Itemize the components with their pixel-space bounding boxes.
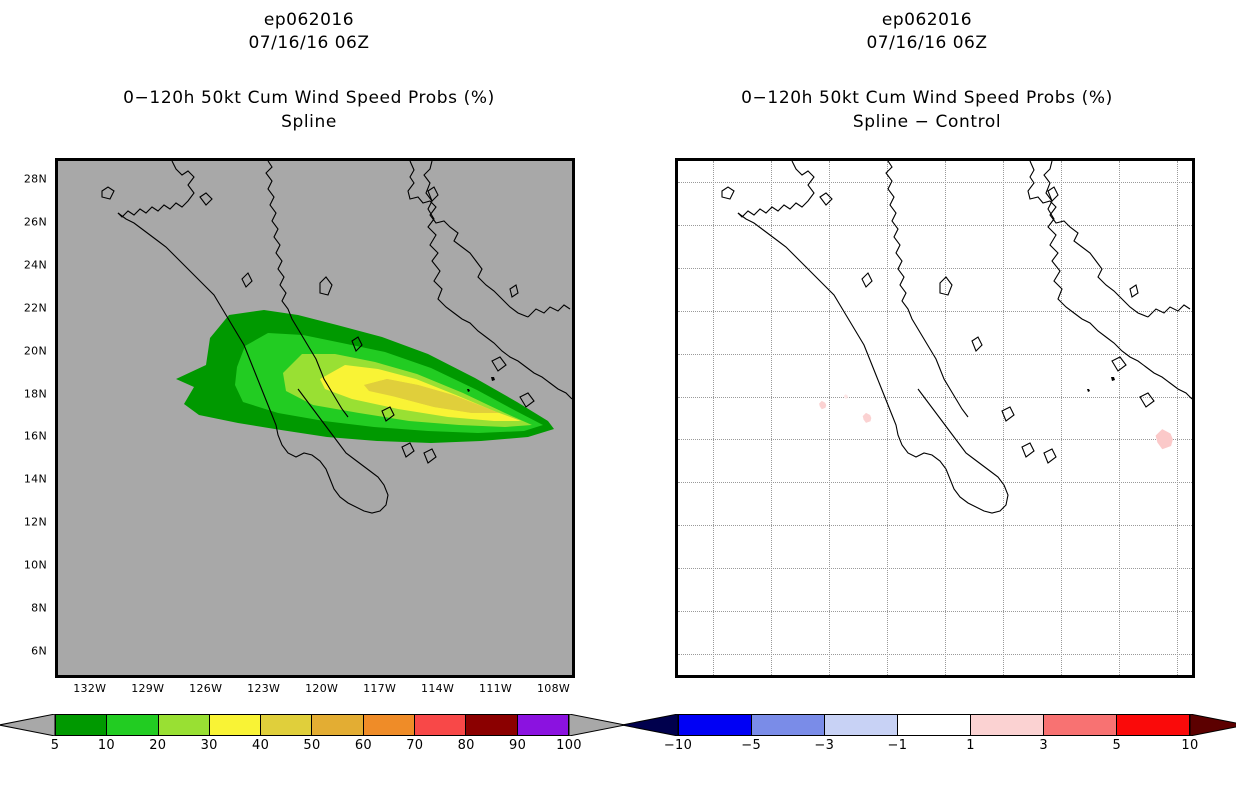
- colorbar-tick-label: 70: [406, 738, 423, 753]
- axis-tick-y: [675, 524, 676, 526]
- colorbar-tick-label: 100: [556, 738, 582, 753]
- axis-tick-x: [770, 675, 772, 678]
- axis-tick-y: [55, 653, 56, 655]
- axis-tick-x: [266, 675, 268, 678]
- axis-label-latitude: 18N: [7, 387, 47, 400]
- colorbar-cell: [1116, 714, 1190, 736]
- axis-tick-y: [675, 610, 676, 612]
- chart-subtitle-right: Spline − Control: [618, 112, 1236, 132]
- colorbar-cell: [55, 714, 106, 736]
- axis-tick-y: [675, 653, 676, 655]
- axis-tick-x: [324, 675, 326, 678]
- axis-tick-y: [55, 567, 56, 569]
- axis-tick-y: [55, 396, 56, 398]
- axis-tick-y: [675, 481, 676, 483]
- axis-tick-x: [498, 675, 500, 678]
- colorbar-tick-label: −3: [814, 738, 834, 753]
- axis-tick-y: [55, 224, 56, 226]
- colorbar-bands-probability: [55, 714, 569, 736]
- axis-tick-y: [675, 438, 676, 440]
- datetime-right: 07/16/16 06Z: [618, 33, 1236, 53]
- axis-tick-x: [556, 675, 558, 678]
- axis-label-longitude: 114W: [421, 682, 454, 695]
- datetime-left: 07/16/16 06Z: [0, 33, 618, 53]
- axis-tick-y: [55, 524, 56, 526]
- colorbar-labels-difference: −10−5−3−113510: [678, 738, 1190, 756]
- coastline-right: [678, 161, 1192, 675]
- colorbar-cell: [106, 714, 157, 736]
- axis-tick-y: [55, 267, 56, 269]
- axis-label-longitude: 123W: [247, 682, 280, 695]
- colorbar-tick-label: 1: [966, 738, 975, 753]
- colorbar-bands-difference: [678, 714, 1190, 736]
- axis-tick-y: [55, 481, 56, 483]
- axis-label-longitude: 129W: [131, 682, 164, 695]
- panel-spline-minus-control: ep062016 07/16/16 06Z 0−120h 50kt Cum Wi…: [618, 0, 1236, 800]
- map-plot-difference: [675, 158, 1195, 678]
- axis-tick-x: [1118, 675, 1120, 678]
- colorbar-cell: [414, 714, 465, 736]
- axis-tick-y: [675, 567, 676, 569]
- coastline-left: [58, 161, 572, 675]
- colorbar-tick-label: 40: [252, 738, 269, 753]
- axis-label-latitude: 24N: [7, 259, 47, 272]
- colorbar-tick-label: 10: [1181, 738, 1198, 753]
- axis-tick-x: [828, 675, 830, 678]
- colorbar-tick-label: 80: [458, 738, 475, 753]
- colorbar-cell: [824, 714, 897, 736]
- axis-label-longitude: 108W: [537, 682, 570, 695]
- colorbar-arrow-low-left: [0, 714, 55, 736]
- storm-id-right: ep062016: [618, 10, 1236, 30]
- axis-tick-x: [1002, 675, 1004, 678]
- colorbar-cell: [209, 714, 260, 736]
- storm-id-left: ep062016: [0, 10, 618, 30]
- axis-label-latitude: 8N: [7, 601, 47, 614]
- chart-title-left: 0−120h 50kt Cum Wind Speed Probs (%): [0, 88, 618, 108]
- axis-tick-x: [208, 675, 210, 678]
- colorbar-tick-label: 5: [51, 738, 60, 753]
- colorbar-arrow-high-left: [569, 714, 625, 736]
- colorbar-cell: [678, 714, 751, 736]
- axis-label-longitude: 120W: [305, 682, 338, 695]
- axis-tick-x: [150, 675, 152, 678]
- axis-label-longitude: 132W: [73, 682, 106, 695]
- axis-tick-x: [382, 675, 384, 678]
- colorbar-cell: [897, 714, 970, 736]
- axis-label-latitude: 14N: [7, 473, 47, 486]
- colorbar-tick-label: −5: [741, 738, 761, 753]
- colorbar-arrow-low-right: [622, 714, 678, 736]
- colorbar-tick-label: 20: [149, 738, 166, 753]
- axis-tick-x: [1176, 675, 1178, 678]
- map-plot-spline: [55, 158, 575, 678]
- axis-tick-x: [944, 675, 946, 678]
- axis-label-latitude: 28N: [7, 173, 47, 186]
- colorbar-tick-label: 60: [355, 738, 372, 753]
- colorbar-cell: [517, 714, 569, 736]
- colorbar-tick-label: 10: [98, 738, 115, 753]
- axis-label-longitude: 117W: [363, 682, 396, 695]
- panel-spline: ep062016 07/16/16 06Z 0−120h 50kt Cum Wi…: [0, 0, 618, 800]
- colorbar-cell: [260, 714, 311, 736]
- chart-subtitle-left: Spline: [0, 112, 618, 132]
- axis-tick-y: [675, 310, 676, 312]
- colorbar-tick-label: −10: [664, 738, 692, 753]
- colorbar-tick-label: 30: [201, 738, 218, 753]
- colorbar-tick-label: −1: [888, 738, 908, 753]
- axis-label-latitude: 12N: [7, 516, 47, 529]
- axis-tick-y: [675, 224, 676, 226]
- axis-tick-y: [55, 181, 56, 183]
- axis-label-latitude: 22N: [7, 301, 47, 314]
- colorbar-tick-label: 3: [1039, 738, 1048, 753]
- axis-tick-y: [675, 267, 676, 269]
- colorbar-cell: [158, 714, 209, 736]
- colorbar-tick-label: 5: [1113, 738, 1122, 753]
- axis-label-latitude: 20N: [7, 344, 47, 357]
- axis-tick-y: [675, 181, 676, 183]
- axis-tick-y: [675, 396, 676, 398]
- axis-label-latitude: 16N: [7, 430, 47, 443]
- axis-label-latitude: 26N: [7, 216, 47, 229]
- axis-label-longitude: 126W: [189, 682, 222, 695]
- colorbar-cell: [751, 714, 824, 736]
- axis-tick-x: [712, 675, 714, 678]
- colorbar-labels-probability: 5102030405060708090100: [55, 738, 569, 756]
- colorbar-cell: [465, 714, 516, 736]
- axis-label-longitude: 111W: [479, 682, 512, 695]
- colorbar-probability: 5102030405060708090100: [55, 714, 569, 774]
- axis-tick-y: [55, 353, 56, 355]
- axis-tick-y: [55, 610, 56, 612]
- axis-tick-x: [440, 675, 442, 678]
- axis-tick-y: [55, 310, 56, 312]
- colorbar-cell: [311, 714, 362, 736]
- axis-label-latitude: 10N: [7, 558, 47, 571]
- axis-tick-y: [675, 353, 676, 355]
- chart-title-right: 0−120h 50kt Cum Wind Speed Probs (%): [618, 88, 1236, 108]
- axis-tick-x: [92, 675, 94, 678]
- axis-tick-y: [55, 438, 56, 440]
- axis-tick-x: [886, 675, 888, 678]
- colorbar-tick-label: 90: [509, 738, 526, 753]
- axis-tick-x: [1060, 675, 1062, 678]
- axis-label-latitude: 6N: [7, 644, 47, 657]
- colorbar-difference: −10−5−3−113510: [678, 714, 1190, 774]
- colorbar-tick-label: 50: [303, 738, 320, 753]
- colorbar-cell: [363, 714, 414, 736]
- colorbar-cell: [970, 714, 1043, 736]
- colorbar-arrow-high-right: [1190, 714, 1236, 736]
- colorbar-cell: [1043, 714, 1116, 736]
